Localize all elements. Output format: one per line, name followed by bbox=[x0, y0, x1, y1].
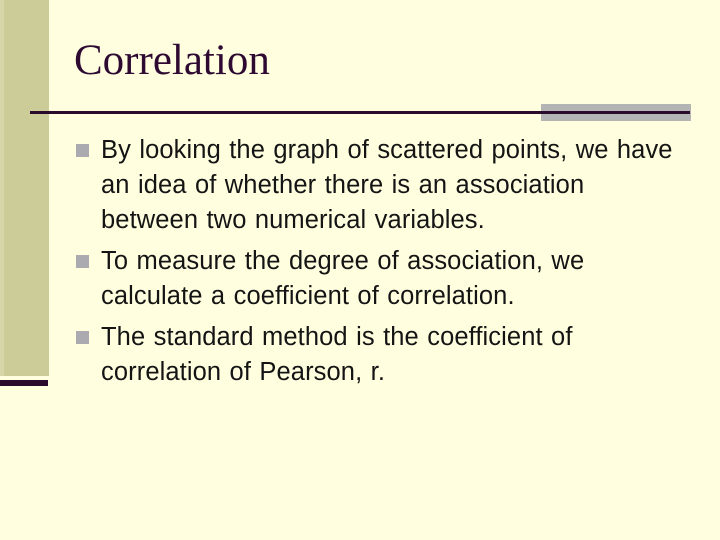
left-accent-band-edge bbox=[0, 0, 4, 376]
list-item: The standard method is the coefficient o… bbox=[76, 320, 676, 390]
bullet-text: By looking the graph of scattered points… bbox=[101, 133, 676, 238]
list-item: By looking the graph of scattered points… bbox=[76, 133, 676, 238]
bullet-text: The standard method is the coefficient o… bbox=[101, 320, 676, 390]
square-bullet-icon bbox=[76, 144, 89, 157]
left-accent-band bbox=[0, 0, 49, 376]
list-item: To measure the degree of association, we… bbox=[76, 244, 676, 314]
slide-title: Correlation bbox=[74, 36, 634, 86]
presentation-slide: Correlation By looking the graph of scat… bbox=[0, 0, 720, 540]
bullet-text: To measure the degree of association, we… bbox=[101, 244, 676, 314]
left-band-bottom-rule bbox=[0, 380, 48, 386]
title-underline-rule bbox=[30, 111, 690, 114]
square-bullet-icon bbox=[76, 255, 89, 268]
square-bullet-icon bbox=[76, 331, 89, 344]
slide-body: By looking the graph of scattered points… bbox=[76, 133, 676, 396]
